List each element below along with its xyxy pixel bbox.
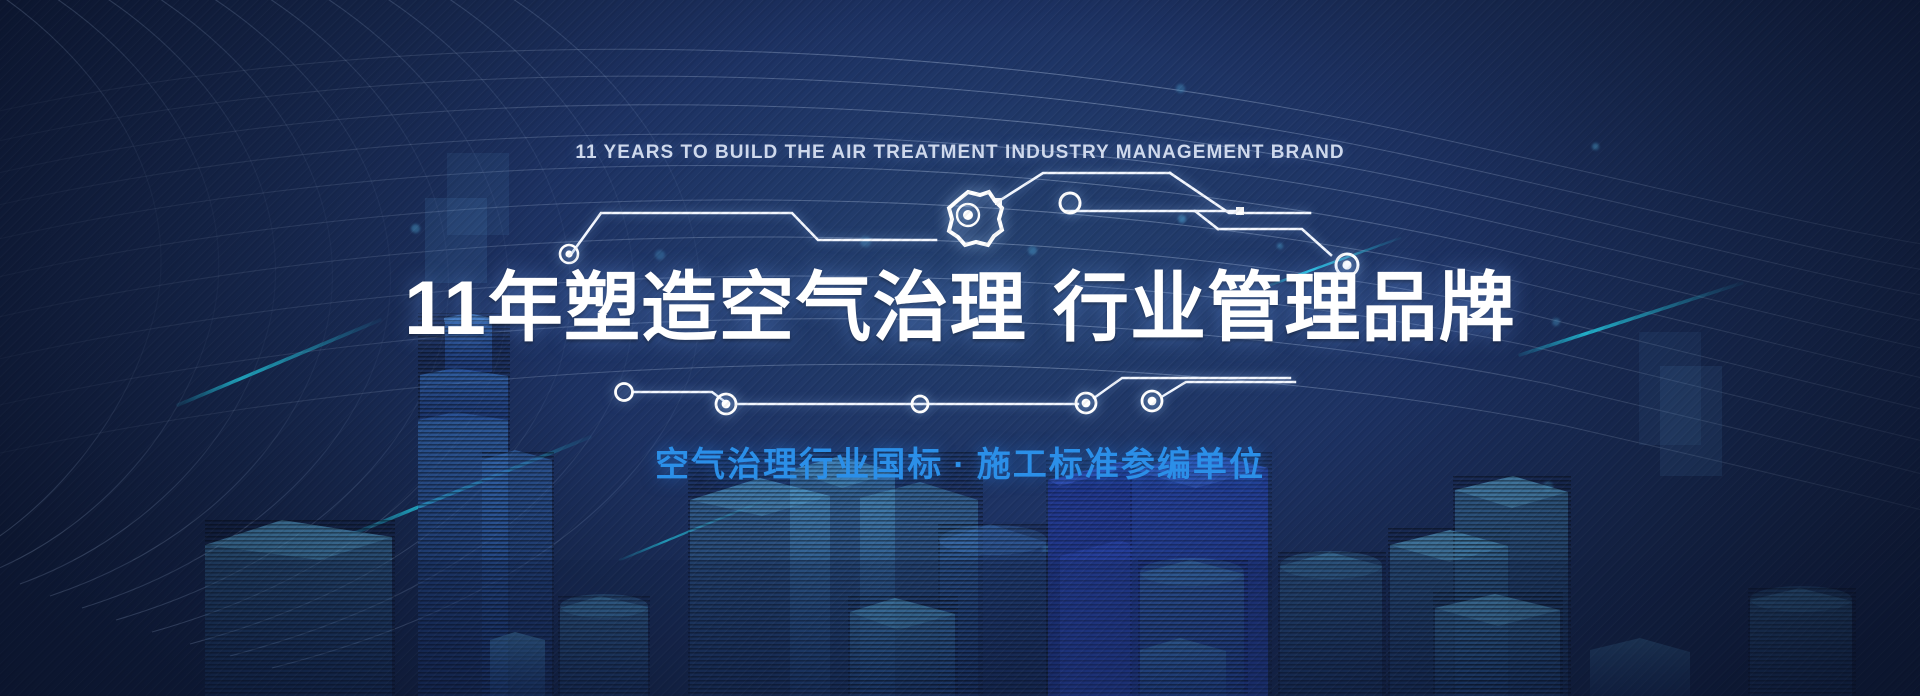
banner-headline: 11年塑造空气治理行业管理品牌: [0, 271, 1920, 347]
subline-left-text: 空气治理行业国标: [655, 446, 943, 484]
subline-separator-dot: ·: [943, 446, 976, 485]
headline-part-1: 11年塑造空气治理: [404, 266, 1027, 351]
banner-eyebrow-text: 11 YEARS TO BUILD THE AIR TREATMENT INDU…: [0, 142, 1920, 164]
ring-node-icon: [716, 394, 736, 414]
ring-node-icon: [616, 384, 633, 401]
ring-node-icon: [1142, 391, 1162, 411]
hero-banner: 11 YEARS TO BUILD THE AIR TREATMENT INDU…: [0, 0, 1920, 696]
subline-right-text: 施工标准参编单位: [977, 446, 1265, 484]
banner-subline: 空气治理行业国标·施工标准参编单位: [0, 437, 1920, 486]
headline-part-2: 行业管理品牌: [1053, 266, 1516, 351]
